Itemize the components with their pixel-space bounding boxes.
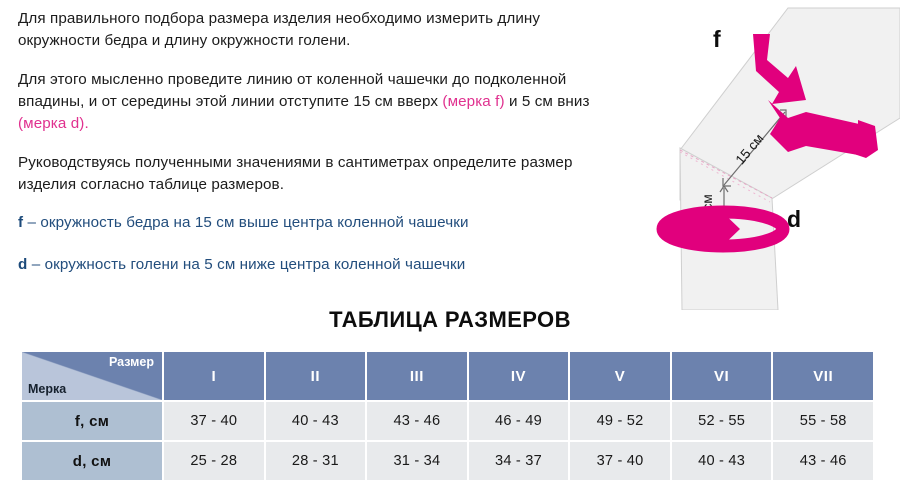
- definition-d: d – окружность голени на 5 см ниже центр…: [18, 254, 618, 276]
- instruction-paragraph-2: Для этого мысленно проведите линию от ко…: [18, 69, 618, 135]
- instruction-paragraph-1: Для правильного подбора размера изделия …: [18, 8, 618, 52]
- size-table: Размер Мерка I II III IV V VI VII f, см …: [20, 350, 875, 482]
- size-table-header-row: Размер Мерка I II III IV V VI VII: [21, 351, 874, 401]
- cell-d-3: 31 - 34: [366, 441, 468, 481]
- leg-measurement-diagram: 15 см 5 см f d: [620, 0, 900, 310]
- corner-measure-label: Мерка: [28, 382, 66, 396]
- cell-f-2: 40 - 43: [265, 401, 367, 441]
- column-header-4: IV: [468, 351, 570, 401]
- mark-f-highlight: (мерка f): [442, 93, 504, 110]
- instructions-panel: Для правильного подбора размера изделия …: [18, 8, 618, 296]
- diagram-label-f: f: [713, 26, 721, 53]
- leg-silhouette: [680, 8, 900, 310]
- column-header-5: V: [569, 351, 671, 401]
- definition-d-text: – окружность голени на 5 см ниже центра …: [27, 256, 465, 273]
- column-header-6: VI: [671, 351, 773, 401]
- cell-f-6: 52 - 55: [671, 401, 773, 441]
- mark-d-highlight: (мерка d).: [18, 115, 89, 132]
- size-table-title: ТАБЛИЦА РАЗМЕРОВ: [0, 307, 900, 333]
- column-header-1: I: [163, 351, 265, 401]
- definition-f: f – окружность бедра на 15 см выше центр…: [18, 212, 618, 234]
- cell-d-5: 37 - 40: [569, 441, 671, 481]
- column-header-3: III: [366, 351, 468, 401]
- cell-f-5: 49 - 52: [569, 401, 671, 441]
- column-header-2: II: [265, 351, 367, 401]
- cell-f-1: 37 - 40: [163, 401, 265, 441]
- cell-d-2: 28 - 31: [265, 441, 367, 481]
- paragraph-2-text-part-2: и 5 см вниз: [505, 93, 590, 110]
- table-row: d, см 25 - 28 28 - 31 31 - 34 34 - 37 37…: [21, 441, 874, 481]
- definition-f-text: – окружность бедра на 15 см выше центра …: [23, 214, 468, 231]
- instruction-paragraph-3: Руководствуясь полученными значениями в …: [18, 152, 618, 196]
- cell-f-4: 46 - 49: [468, 401, 570, 441]
- cell-f-3: 43 - 46: [366, 401, 468, 441]
- cell-d-6: 40 - 43: [671, 441, 773, 481]
- column-header-7: VII: [772, 351, 874, 401]
- cell-f-7: 55 - 58: [772, 401, 874, 441]
- cell-d-7: 43 - 46: [772, 441, 874, 481]
- cell-d-4: 34 - 37: [468, 441, 570, 481]
- cell-d-1: 25 - 28: [163, 441, 265, 481]
- corner-size-label: Размер: [109, 355, 154, 369]
- table-row: f, см 37 - 40 40 - 43 43 - 46 46 - 49 49…: [21, 401, 874, 441]
- definition-d-symbol: d: [18, 256, 27, 273]
- row-label-f: f, см: [21, 401, 163, 441]
- corner-header-cell: Размер Мерка: [21, 351, 163, 401]
- diagram-label-d: d: [787, 206, 801, 233]
- row-label-d: d, см: [21, 441, 163, 481]
